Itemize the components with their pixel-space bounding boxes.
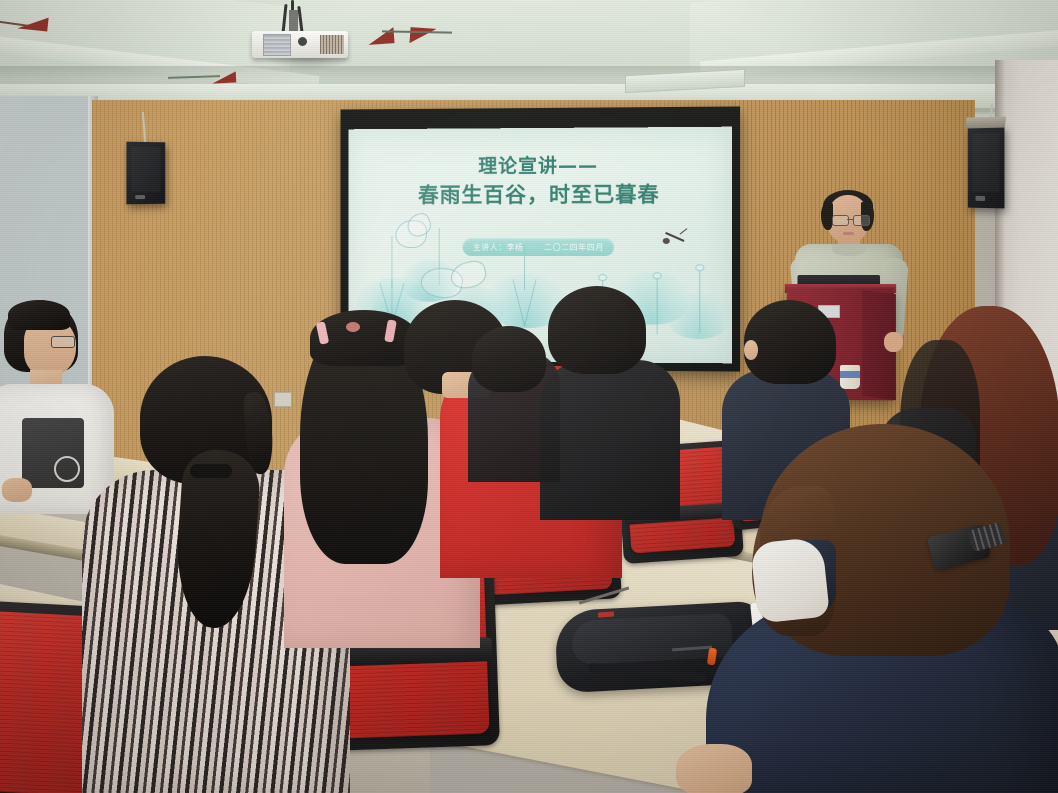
- slide-subtitle-presenter: 主讲人：李杨: [473, 242, 524, 253]
- presenter-glasses-left-lens: [832, 215, 849, 226]
- dragonfly-icon: [663, 230, 689, 242]
- lotus-stem-5: [657, 278, 658, 334]
- speaker-left-badge: [135, 195, 145, 199]
- slide-title-line-1: 理论宣讲——: [348, 153, 732, 179]
- presenter-collar: [832, 244, 866, 256]
- lotus-pod-1: [598, 274, 607, 281]
- speaker-right-bracket: [966, 116, 1007, 128]
- student-pink-top-hairband: [346, 322, 360, 332]
- slide-title-line-2: 春雨生百谷，时至已暮春: [348, 180, 732, 209]
- student-white-tshirt-fringe: [8, 300, 70, 330]
- slide-title-block: 理论宣讲—— 春雨生百谷，时至已暮春: [348, 153, 732, 209]
- wall-outlet[interactable]: [274, 392, 292, 407]
- speaker-left-grille: [131, 147, 160, 192]
- student-dark-shirt-hair: [472, 326, 546, 392]
- slide-subtitle-date: 二〇二四年四月: [544, 241, 604, 252]
- lotus-pod-2: [653, 272, 662, 279]
- student-white-tshirt-glasses: [51, 336, 75, 348]
- slide-subtitle-pill: 主讲人：李杨 二〇二四年四月: [462, 238, 614, 256]
- projector-vent: [320, 35, 344, 54]
- wall-speaker-left: [126, 142, 165, 205]
- student-striped-shirt-hairtie: [190, 464, 232, 478]
- student-navy-shirt-right-ear: [744, 340, 758, 360]
- classroom-photo: 理论宣讲—— 春雨生百谷，时至已暮春 主讲人：李杨 二〇二四年四月: [0, 0, 1058, 793]
- lotus-pod-3: [695, 264, 704, 271]
- student-navy-top-hand: [676, 744, 752, 793]
- student-white-tshirt-hand: [2, 478, 32, 502]
- presenter-glasses-right-lens: [853, 215, 870, 226]
- speaker-right-badge: [976, 196, 985, 202]
- paper-cup-band: [840, 371, 860, 378]
- lotus-stem-6: [699, 270, 700, 333]
- presenter-mouth: [843, 232, 854, 235]
- wall-speaker-right: [968, 126, 1005, 209]
- projector-lens-icon: [263, 34, 291, 56]
- student-navy-shirt-right-hair: [744, 300, 836, 384]
- lotus-stem-1: [391, 236, 392, 288]
- student-black-shirt-hair: [548, 286, 646, 374]
- projector-knob: [298, 37, 307, 46]
- speaker-right-grille: [972, 132, 1000, 192]
- ceiling-accent-right: [212, 71, 237, 83]
- presenter-hand-right: [884, 332, 903, 352]
- student-black-shirt-torso: [540, 360, 680, 520]
- presenter-glasses-bridge: [847, 219, 853, 220]
- white-fabric-item: [750, 536, 830, 623]
- ceiling-accent-center-right: [409, 27, 436, 45]
- student-white-tshirt-graphic-circle: [54, 456, 80, 482]
